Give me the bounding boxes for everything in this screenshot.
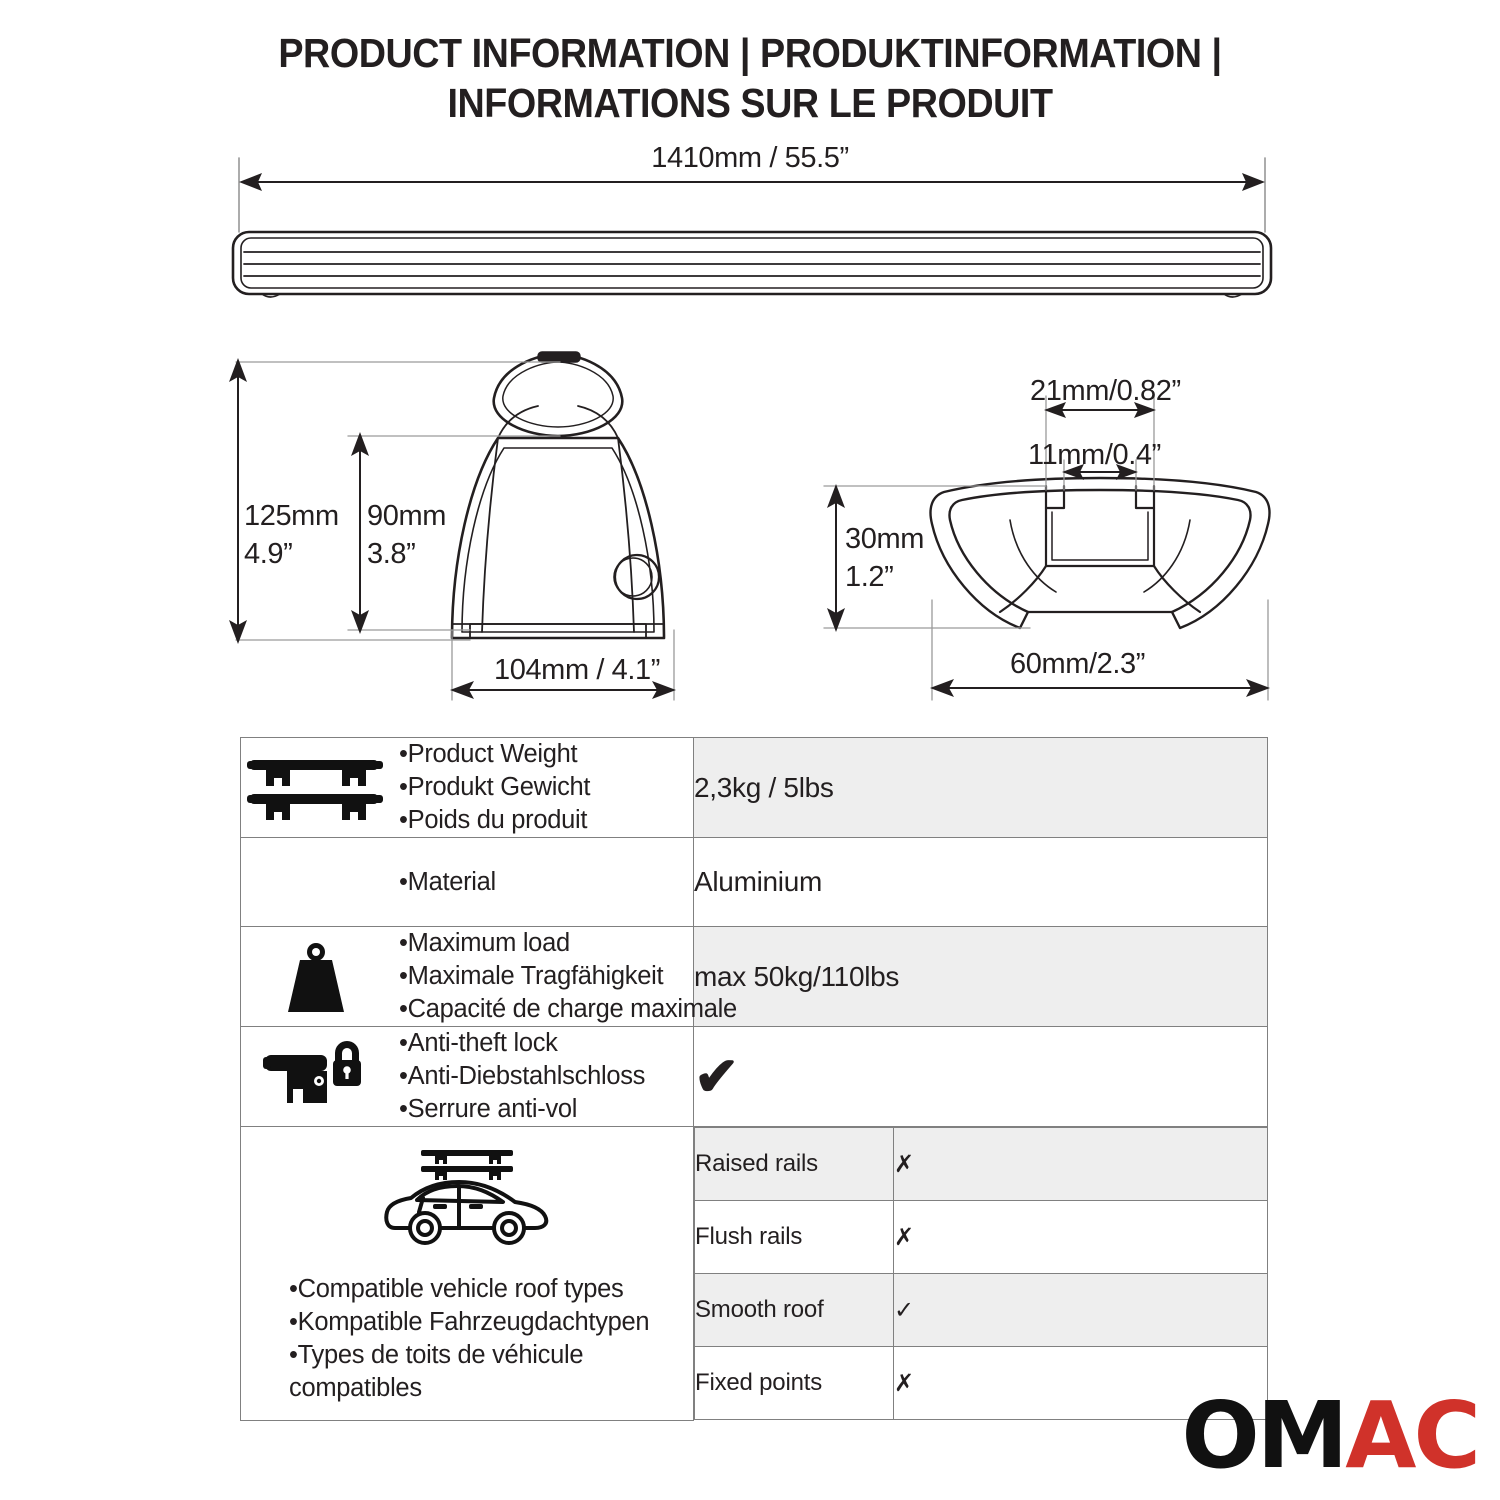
spec-label-cell: •Maximum load •Maximale Tragfähigkeit •C… [241, 927, 694, 1027]
spec-value-max-load: max 50kg/110lbs [694, 927, 1268, 1027]
spec-label-fr: •Capacité de charge maximale [399, 993, 737, 1026]
spec-label-de: •Produkt Gewicht [399, 771, 590, 804]
spec-label-de: •Anti-Diebstahlschloss [399, 1060, 645, 1093]
car-with-roof-rack-icon [377, 1142, 557, 1259]
spec-label-en: •Anti-theft lock [399, 1027, 645, 1060]
checkmark-icon: ✔ [694, 1047, 739, 1107]
spec-label-en: •Maximum load [399, 927, 737, 960]
table-row: •Anti-theft lock •Anti-Diebstahlschloss … [241, 1027, 1268, 1127]
tower-total-height-label: 125mm 4.9” [244, 497, 339, 573]
roof-label-fr: •Types de toits de véhicule [289, 1339, 693, 1372]
spec-label-texts: •Maximum load •Maximale Tragfähigkeit •C… [399, 927, 737, 1026]
spec-label-texts: •Anti-theft lock •Anti-Diebstahlschloss … [399, 1027, 645, 1126]
roof-types-texts: •Compatible vehicle roof types •Kompatib… [241, 1259, 693, 1405]
roof-bar-side-view [233, 232, 1271, 297]
roof-type-name: Fixed points [695, 1347, 894, 1420]
roof-types-sub-cell: Raised rails ✗ Flush rails ✗ Smooth roof… [694, 1127, 1268, 1421]
logo-text-om: OM [1182, 1382, 1346, 1489]
weight-icon [241, 938, 391, 1016]
roof-types-table: Raised rails ✗ Flush rails ✗ Smooth roof… [694, 1127, 1268, 1420]
roof-type-row: Raised rails ✗ [695, 1128, 1268, 1201]
roof-label-fr-cont: compatibles [289, 1372, 693, 1405]
spec-label-fr: •Serrure anti-vol [399, 1093, 645, 1126]
table-row: •Product Weight •Produkt Gewicht •Poids … [241, 738, 1268, 838]
table-row: •Maximum load •Maximale Tragfähigkeit •C… [241, 927, 1268, 1027]
spec-value-lock: ✔ [694, 1027, 1268, 1127]
roof-type-row: Smooth roof ✓ [695, 1274, 1268, 1347]
roof-type-mark: ✗ [894, 1128, 1268, 1201]
bar-length-label: 1410mm / 55.5” [0, 139, 1500, 177]
roof-type-mark: ✓ [894, 1274, 1268, 1347]
logo-text-ac: AC [1345, 1382, 1478, 1489]
spec-label-en: •Product Weight [399, 738, 590, 771]
table-row: •Material Aluminium [241, 838, 1268, 927]
spec-label-cell: •Product Weight •Produkt Gewicht •Poids … [241, 738, 694, 838]
spec-label-cell: •Material [241, 838, 694, 927]
lock-icon [241, 1039, 391, 1115]
spec-label-de: •Maximale Tragfähigkeit [399, 960, 737, 993]
spec-label-fr: •Poids du produit [399, 804, 590, 837]
roof-rack-bars-icon-svg [246, 752, 386, 824]
weight-icon-svg [276, 938, 356, 1016]
bar-cross-section [931, 478, 1270, 628]
profile-width-label: 60mm/2.3” [1010, 645, 1145, 683]
product-spec-table: •Product Weight •Produkt Gewicht •Poids … [240, 737, 1268, 1421]
roof-type-name: Raised rails [695, 1128, 894, 1201]
tower-width-label: 104mm / 4.1” [494, 651, 660, 689]
spec-label-material: •Material [399, 866, 496, 899]
car-with-roof-rack-icon-svg [377, 1142, 557, 1254]
lock-icon-svg [261, 1039, 371, 1115]
spec-label-texts: •Product Weight •Produkt Gewicht •Poids … [399, 738, 590, 837]
page-title: PRODUCT INFORMATION | PRODUKTINFORMATION… [0, 28, 1500, 128]
spec-label-texts: •Material [399, 866, 496, 899]
roof-rack-bars-icon [241, 752, 391, 824]
spec-label-cell: •Anti-theft lock •Anti-Diebstahlschloss … [241, 1027, 694, 1127]
roof-type-mark: ✗ [894, 1201, 1268, 1274]
profile-inner-slot-label: 11mm/0.4” [1028, 436, 1161, 474]
roof-label-en: •Compatible vehicle roof types [289, 1273, 693, 1306]
profile-outer-slot-label: 21mm/0.82” [1030, 372, 1181, 410]
table-row-roof-types: •Compatible vehicle roof types •Kompatib… [241, 1127, 1268, 1421]
roof-label-de: •Kompatible Fahrzeugdachtypen [289, 1306, 693, 1339]
profile-height-label: 30mm 1.2” [845, 520, 924, 596]
tower-inner-height-label: 90mm 3.8” [367, 497, 446, 573]
roof-types-label-cell: •Compatible vehicle roof types •Kompatib… [241, 1127, 694, 1421]
title-line-1: PRODUCT INFORMATION | PRODUKTINFORMATION… [60, 28, 1440, 78]
title-line-2: INFORMATIONS SUR LE PRODUIT [60, 78, 1440, 128]
roof-type-name: Flush rails [695, 1201, 894, 1274]
roof-type-row: Flush rails ✗ [695, 1201, 1268, 1274]
omac-logo: OMAC [1182, 1390, 1478, 1482]
spec-value-material: Aluminium [694, 838, 1268, 927]
spec-value-weight: 2,3kg / 5lbs [694, 738, 1268, 838]
tower-front-view [452, 352, 664, 638]
roof-type-name: Smooth roof [695, 1274, 894, 1347]
